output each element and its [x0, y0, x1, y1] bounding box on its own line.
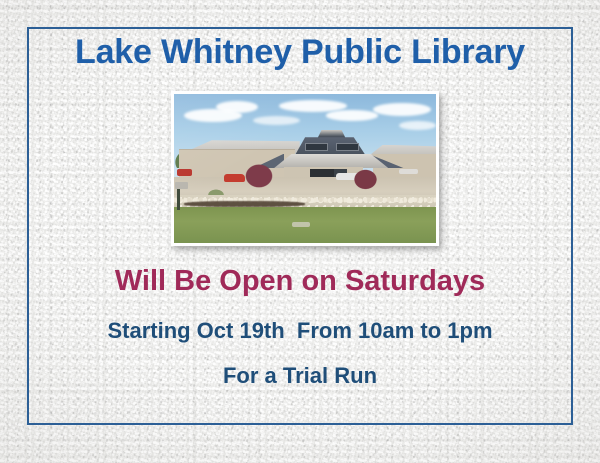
library-building-photo [174, 94, 436, 243]
photo-car-white [399, 169, 417, 175]
library-photo-frame [171, 91, 439, 246]
poster-canvas: Lake Whitney Public Library [0, 0, 600, 463]
poster-content: Lake Whitney Public Library [0, 0, 600, 463]
photo-ornamental-tree [237, 160, 282, 199]
photo-cloud [326, 110, 378, 120]
photo-clerestory-window [305, 143, 328, 151]
trial-run-line: For a Trial Run [0, 363, 600, 389]
photo-clerestory-window [336, 143, 359, 151]
photo-cloud [399, 121, 436, 130]
photo-lawn-marker [292, 222, 310, 226]
headline-open-saturdays: Will Be Open on Saturdays [0, 264, 600, 299]
page-title: Lake Whitney Public Library [0, 33, 600, 72]
photo-mailbox [175, 182, 188, 189]
schedule-line: Starting Oct 19th From 10am to 1pm [0, 318, 600, 344]
photo-car-red [177, 169, 193, 176]
photo-ornamental-tree [347, 166, 384, 199]
